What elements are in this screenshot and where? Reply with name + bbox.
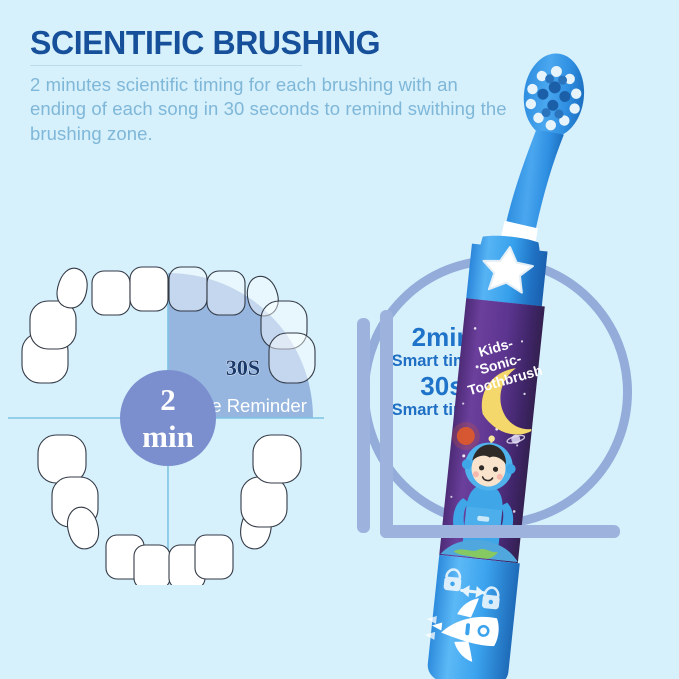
- timer-panel: 2min Smart timing 30s Smart timing: [352, 248, 679, 568]
- infographic-canvas: SCIENTIFIC BRUSHING 2 minutes scientific…: [0, 0, 679, 679]
- center-timer-unit: min: [142, 419, 194, 454]
- rocket-icon: [423, 593, 502, 664]
- upper-arch: [22, 265, 168, 383]
- quadrant-seconds-label: 30S: [226, 355, 260, 380]
- timing-label-group: 2min Smart timing 30s Smart timing: [362, 323, 522, 421]
- center-timer-value: 2: [160, 382, 176, 417]
- timing-line-smart-timing-2: Smart timing: [362, 401, 522, 421]
- title-divider: [30, 65, 302, 66]
- header: SCIENTIFIC BRUSHING 2 minutes scientific…: [30, 26, 530, 146]
- lock-icon: [442, 569, 502, 610]
- double-arrow-icon: [461, 585, 484, 597]
- page-title: SCIENTIFIC BRUSHING: [30, 26, 515, 61]
- timing-line-30s: 30s: [362, 372, 522, 401]
- brush-head-collar: [500, 221, 538, 247]
- handle-base-blue: [426, 555, 520, 679]
- bristles-icon: [523, 63, 584, 133]
- teeth-diagram: 30S Pause Reminder 2 min: [0, 255, 340, 585]
- timing-line-2min: 2min: [362, 323, 522, 352]
- timing-line-smart-timing-1: Smart timing: [362, 352, 522, 372]
- subtitle-text: 2 minutes scientific timing for each bru…: [30, 73, 510, 147]
